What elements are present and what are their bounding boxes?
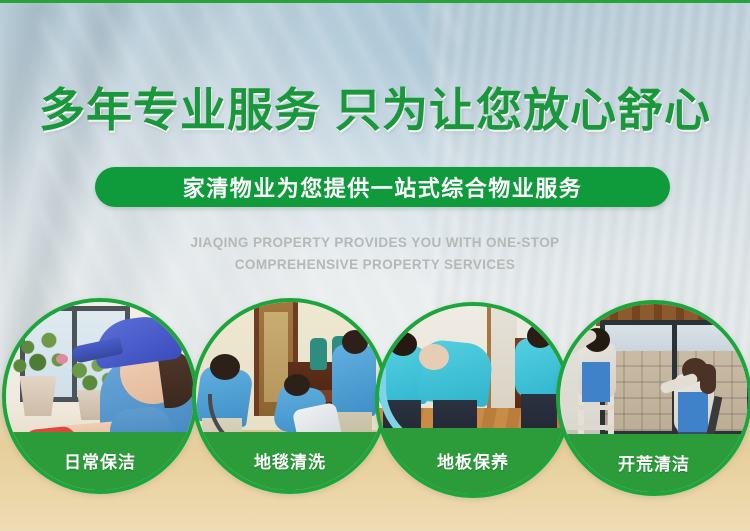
page-title: 多年专业服务只为让您放心舒心 bbox=[0, 82, 750, 138]
headline-part-1: 多年专业服务 bbox=[39, 84, 321, 136]
service-label-text: 地板保养 bbox=[437, 448, 509, 473]
subtitle-english: JIAQING PROPERTY PROVIDES YOU WITH ONE-S… bbox=[0, 232, 750, 276]
tagline-pill: 家清物业为您提供一站式综合物业服务 bbox=[95, 167, 670, 207]
subtitle-line-2: COMPREHENSIVE PROPERTY SERVICES bbox=[0, 254, 750, 276]
service-circle-daily-cleaning[interactable]: 日常保洁 bbox=[2, 298, 198, 494]
service-circle-carpet-cleaning[interactable]: 地毯清洗 bbox=[192, 298, 388, 494]
service-label-text: 开荒清洁 bbox=[618, 450, 690, 475]
service-label-text: 地毯清洗 bbox=[254, 448, 326, 473]
service-label-text: 日常保洁 bbox=[64, 448, 136, 473]
service-circle-post-construction-cleaning[interactable]: 开荒清洁 bbox=[556, 300, 750, 496]
service-circle-floor-maintenance[interactable]: 地板保养 bbox=[375, 302, 571, 498]
promo-banner: 多年专业服务只为让您放心舒心 家清物业为您提供一站式综合物业服务 JIAQING… bbox=[0, 0, 750, 531]
tagline-text: 家清物业为您提供一站式综合物业服务 bbox=[183, 171, 583, 203]
subtitle-line-1: JIAQING PROPERTY PROVIDES YOU WITH ONE-S… bbox=[190, 235, 559, 250]
headline-part-2: 只为让您放心舒心 bbox=[335, 84, 711, 136]
top-green-rule bbox=[0, 0, 750, 3]
